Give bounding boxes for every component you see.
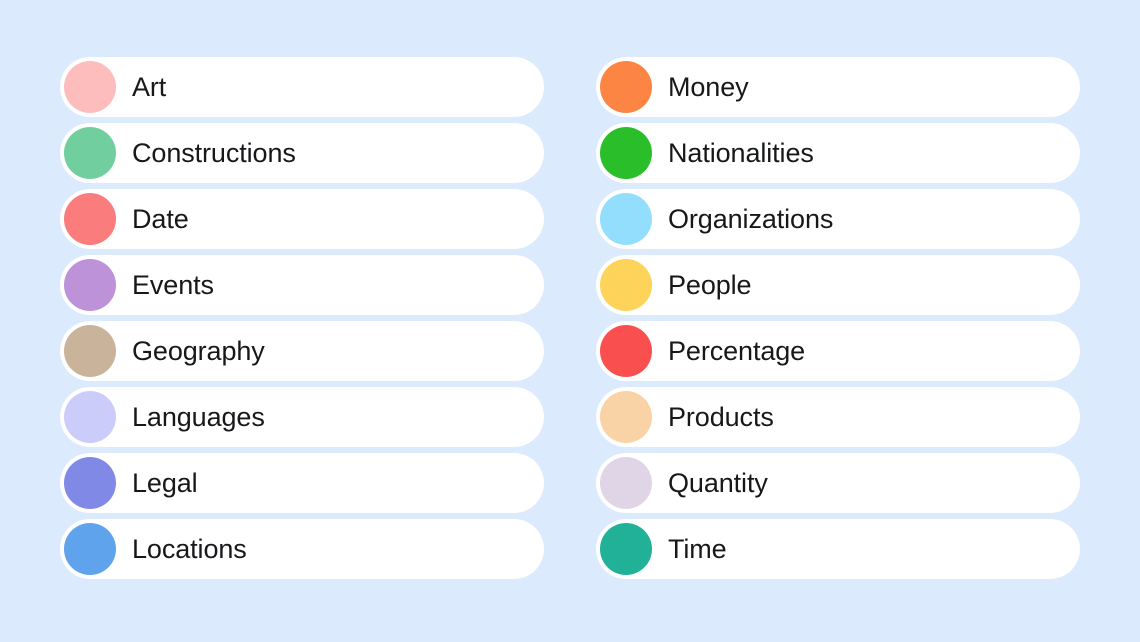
color-swatch-icon — [600, 127, 652, 179]
color-swatch-icon — [64, 193, 116, 245]
color-swatch-icon — [600, 61, 652, 113]
color-swatch-icon — [600, 523, 652, 575]
list-item[interactable]: Money — [596, 57, 1080, 117]
color-swatch-icon — [64, 259, 116, 311]
list-item[interactable]: Time — [596, 519, 1080, 579]
color-swatch-icon — [600, 391, 652, 443]
list-item-label: Legal — [132, 470, 198, 497]
list-item-label: People — [668, 272, 751, 299]
list-item-label: Constructions — [132, 140, 296, 167]
list-item-label: Date — [132, 206, 189, 233]
list-item[interactable]: Constructions — [60, 123, 544, 183]
list-item[interactable]: Locations — [60, 519, 544, 579]
list-item-label: Nationalities — [668, 140, 814, 167]
color-swatch-icon — [600, 325, 652, 377]
list-item[interactable]: Percentage — [596, 321, 1080, 381]
color-swatch-icon — [600, 259, 652, 311]
list-item-label: Quantity — [668, 470, 768, 497]
color-swatch-icon — [600, 457, 652, 509]
color-swatch-icon — [64, 523, 116, 575]
list-item-label: Art — [132, 74, 166, 101]
list-item[interactable]: Art — [60, 57, 544, 117]
list-item-label: Geography — [132, 338, 265, 365]
list-item-label: Percentage — [668, 338, 805, 365]
list-item[interactable]: People — [596, 255, 1080, 315]
list-item-label: Organizations — [668, 206, 833, 233]
legend-board: Art Constructions Date Events Geography … — [0, 0, 1140, 642]
list-item[interactable]: Nationalities — [596, 123, 1080, 183]
color-swatch-icon — [64, 61, 116, 113]
list-item[interactable]: Languages — [60, 387, 544, 447]
legend-column-left: Art Constructions Date Events Geography … — [60, 57, 544, 579]
color-swatch-icon — [64, 127, 116, 179]
list-item[interactable]: Legal — [60, 453, 544, 513]
list-item-label: Locations — [132, 536, 247, 563]
list-item-label: Languages — [132, 404, 265, 431]
legend-column-right: Money Nationalities Organizations People… — [596, 57, 1080, 579]
color-swatch-icon — [64, 391, 116, 443]
list-item[interactable]: Events — [60, 255, 544, 315]
list-item[interactable]: Date — [60, 189, 544, 249]
list-item-label: Money — [668, 74, 749, 101]
list-item-label: Time — [668, 536, 727, 563]
list-item[interactable]: Geography — [60, 321, 544, 381]
color-swatch-icon — [64, 457, 116, 509]
list-item[interactable]: Organizations — [596, 189, 1080, 249]
color-swatch-icon — [600, 193, 652, 245]
list-item[interactable]: Products — [596, 387, 1080, 447]
color-swatch-icon — [64, 325, 116, 377]
list-item[interactable]: Quantity — [596, 453, 1080, 513]
list-item-label: Events — [132, 272, 214, 299]
list-item-label: Products — [668, 404, 774, 431]
